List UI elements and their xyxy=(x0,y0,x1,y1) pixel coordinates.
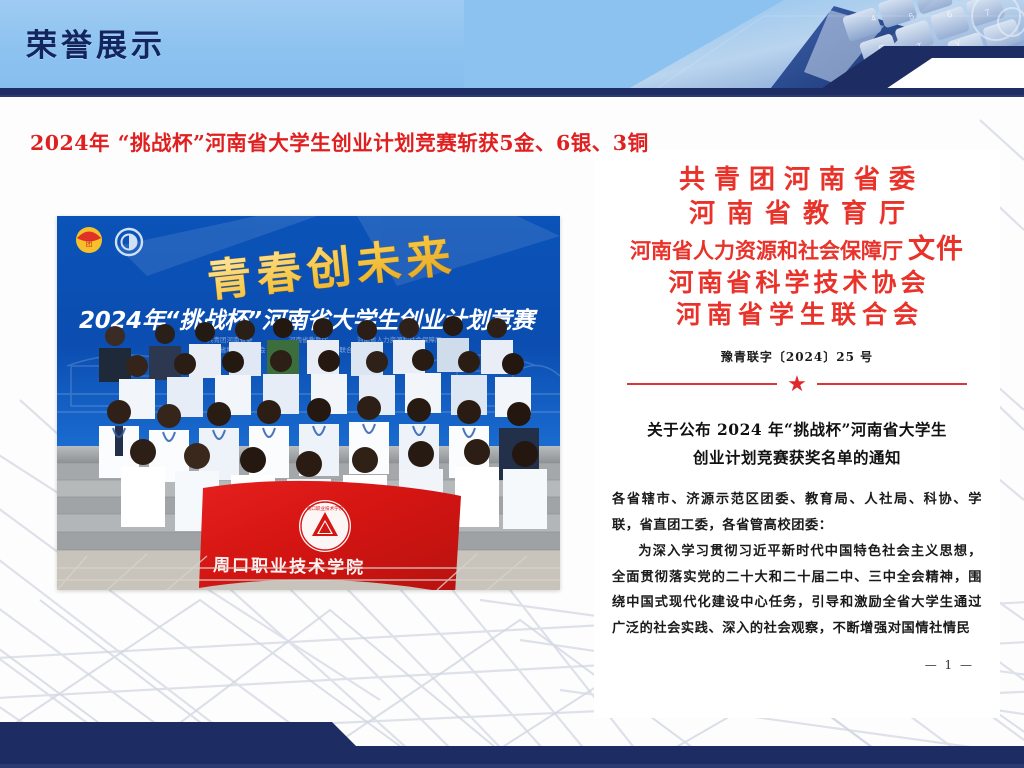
award-group-photo: 团 青春创未来 2024年“挑战杯”河南省大学生创业计划竞赛 共青团河南省委 河… xyxy=(57,216,560,590)
red-star-icon: ★ xyxy=(787,375,807,393)
document-page-number: — 1 — xyxy=(925,658,974,672)
doc-word-label: 文件 xyxy=(908,234,964,265)
doc-org-line-5: 河南省学生联合会 xyxy=(604,299,990,332)
slide-header: 4 5 6 7 R T Y 荣誉展示 xyxy=(0,0,1024,97)
slide-root: 4 5 6 7 R T Y 荣誉展示 xyxy=(0,0,1024,768)
page-title: 荣誉展示 xyxy=(26,30,166,61)
doc-org-line-3: 河南省人力资源和社会保障厅文件 xyxy=(604,232,990,267)
footer-navy-band xyxy=(0,706,1024,768)
header-divider-bar xyxy=(0,88,1024,97)
svg-text:周口职业技术学院: 周口职业技术学院 xyxy=(213,555,365,579)
doc-org-line-2: 河南省教育厅 xyxy=(604,198,990,232)
honor-title: 2024年 “挑战杯”河南省大学生创业计划竞赛斩获5金、6银、3铜 xyxy=(30,133,649,154)
document-number: 豫青联字〔2024〕25 号 xyxy=(594,348,1000,365)
document-letterhead: 共青团河南省委 河南省教育厅 河南省人力资源和社会保障厅文件 河南省科学技术协会… xyxy=(594,150,1000,332)
document-paragraph-2: 为深入学习贯彻习近平新时代中国特色社会主义思想，全面贯彻落实党的二十大和二十届二… xyxy=(612,539,982,642)
doc-org-line-3-text: 河南省人力资源和社会保障厅 xyxy=(630,238,903,263)
doc-org-line-1: 共青团河南省委 xyxy=(604,164,990,198)
separator-line-right xyxy=(817,383,967,386)
doc-org-line-4: 河南省科学技术协会 xyxy=(604,267,990,300)
svg-text:周口职业技术学院: 周口职业技术学院 xyxy=(307,505,344,512)
document-title-line-2: 创业计划竞赛获奖名单的通知 xyxy=(594,444,1000,472)
separator-line-left xyxy=(627,383,777,386)
keyboard-tech-image-icon: 4 5 6 7 R T Y xyxy=(464,0,1024,97)
document-title: 关于公布 2024 年“挑战杯”河南省大学生 创业计划竞赛获奖名单的通知 xyxy=(594,416,1000,472)
document-body: 各省辖市、济源示范区团委、教育局、人社局、科协、学联，省直团工委，各省管高校团委… xyxy=(612,487,982,641)
document-paragraph-1: 各省辖市、济源示范区团委、教育局、人社局、科协、学联，省直团工委，各省管高校团委… xyxy=(612,487,982,538)
svg-text:2024年“挑战杯”河南省大学生创业计划竞赛: 2024年“挑战杯”河南省大学生创业计划竞赛 xyxy=(79,307,538,334)
official-document-card: 共青团河南省委 河南省教育厅 河南省人力资源和社会保障厅文件 河南省科学技术协会… xyxy=(594,150,1000,718)
svg-text:团: 团 xyxy=(86,240,93,248)
document-separator: ★ xyxy=(627,374,967,394)
document-title-line-1: 关于公布 2024 年“挑战杯”河南省大学生 xyxy=(594,416,1000,444)
